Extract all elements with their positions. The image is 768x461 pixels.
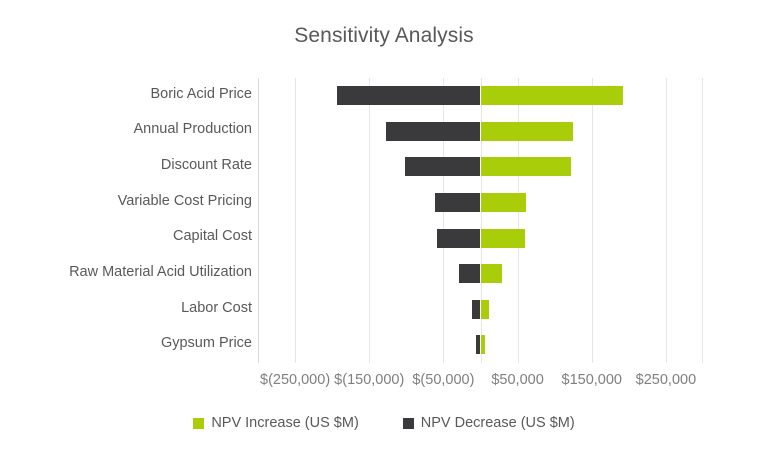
- bar-npv-decrease[interactable]: [435, 193, 481, 212]
- category-label: Variable Cost Pricing: [2, 193, 252, 209]
- legend-swatch-icon: [403, 418, 414, 429]
- legend-label: NPV Increase (US $M): [211, 415, 358, 431]
- bar-row: [258, 221, 703, 257]
- bar-npv-increase[interactable]: [481, 122, 574, 141]
- legend-item[interactable]: NPV Decrease (US $M): [403, 415, 575, 431]
- x-tick-label: $(250,000): [260, 372, 330, 388]
- bar-row: [258, 78, 703, 114]
- category-axis-labels: Boric Acid PriceAnnual ProductionDiscoun…: [0, 78, 252, 363]
- legend-swatch-icon: [193, 418, 204, 429]
- category-label: Raw Material Acid Utilization: [2, 264, 252, 280]
- chart-title: Sensitivity Analysis: [0, 24, 768, 48]
- category-label: Gypsum Price: [2, 335, 252, 351]
- x-tick-label: $250,000: [636, 372, 696, 388]
- bar-row: [258, 327, 703, 363]
- bar-npv-decrease[interactable]: [459, 264, 480, 283]
- x-axis-tick-labels: $(250,000)$(150,000)$(50,000)$50,000$150…: [0, 372, 768, 394]
- bar-npv-increase[interactable]: [481, 193, 527, 212]
- bar-row: [258, 114, 703, 150]
- category-label: Labor Cost: [2, 300, 252, 316]
- bar-npv-decrease[interactable]: [337, 86, 480, 105]
- category-label: Boric Acid Price: [2, 86, 252, 102]
- bar-row: [258, 185, 703, 221]
- plot-area: [258, 78, 703, 363]
- bar-npv-increase[interactable]: [481, 86, 623, 105]
- x-tick-label: $(50,000): [412, 372, 474, 388]
- bar-npv-increase[interactable]: [481, 157, 571, 176]
- category-label: Discount Rate: [2, 157, 252, 173]
- x-tick-label: $(150,000): [334, 372, 404, 388]
- bar-row: [258, 292, 703, 328]
- bar-npv-increase[interactable]: [481, 229, 526, 248]
- bar-npv-decrease[interactable]: [405, 157, 481, 176]
- bar-npv-decrease[interactable]: [472, 300, 481, 319]
- category-label: Capital Cost: [2, 228, 252, 244]
- legend-item[interactable]: NPV Increase (US $M): [193, 415, 358, 431]
- bar-npv-increase[interactable]: [481, 300, 490, 319]
- bar-npv-increase[interactable]: [481, 264, 502, 283]
- x-tick-label: $150,000: [562, 372, 622, 388]
- chart-legend: NPV Increase (US $M)NPV Decrease (US $M): [0, 415, 768, 431]
- bar-npv-increase[interactable]: [481, 335, 485, 354]
- x-tick-label: $50,000: [491, 372, 543, 388]
- bar-npv-decrease[interactable]: [386, 122, 480, 141]
- bar-row: [258, 149, 703, 185]
- bar-npv-decrease[interactable]: [437, 229, 481, 248]
- sensitivity-analysis-chart: Sensitivity Analysis Boric Acid PriceAnn…: [0, 0, 768, 461]
- bar-row: [258, 256, 703, 292]
- legend-label: NPV Decrease (US $M): [421, 415, 575, 431]
- category-label: Annual Production: [2, 121, 252, 137]
